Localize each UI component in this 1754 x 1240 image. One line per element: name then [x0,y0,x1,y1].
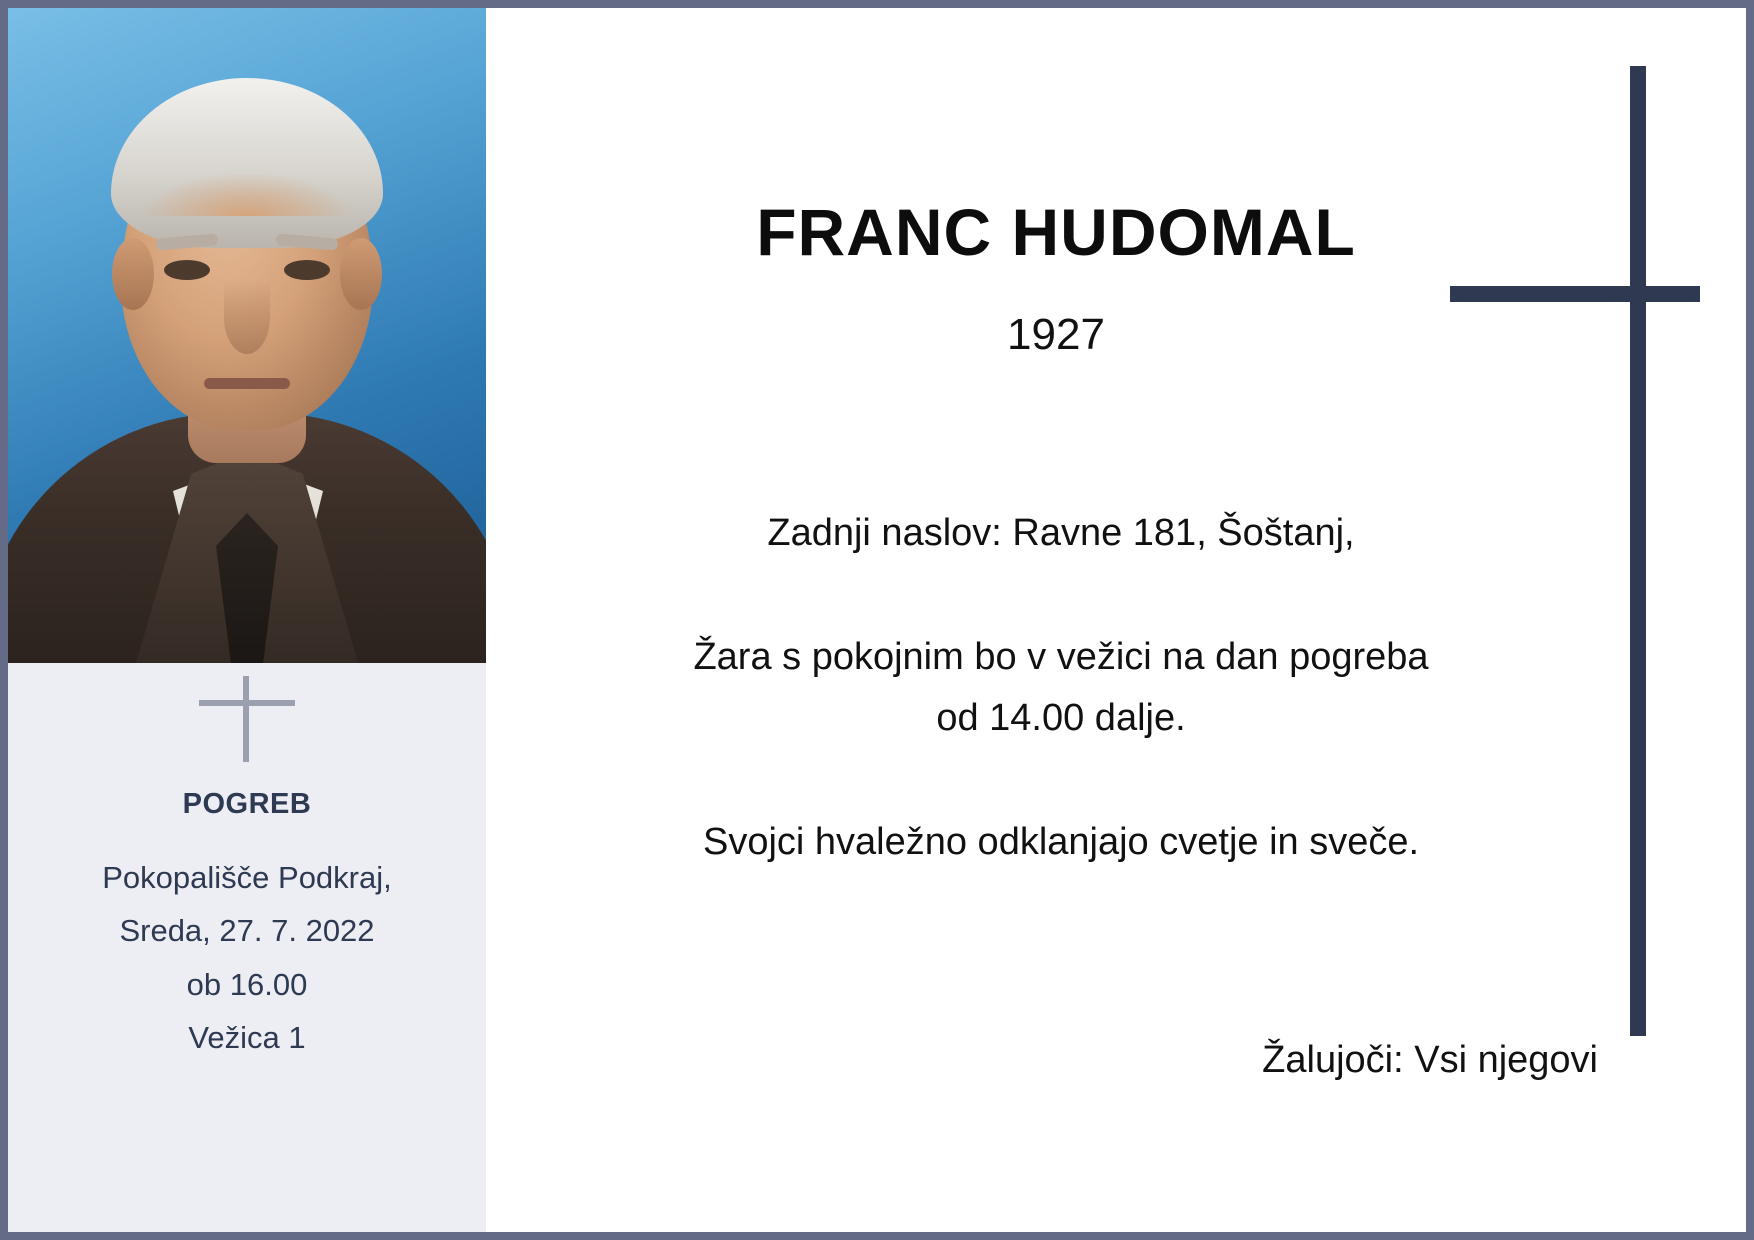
obituary-notice: POGREB Pokopališče Podkraj, Sreda, 27. 7… [8,8,1746,1232]
portrait-eye-left [164,260,210,280]
portrait-ear-left [112,238,154,310]
flowers-line: Svojci hvaležno odklanjajo cvetje in sve… [526,812,1596,874]
notice-body: Zadnji naslov: Ravne 181, Šoštanj, Žara … [526,503,1596,873]
last-address-line: Zadnji naslov: Ravne 181, Šoštanj, [526,503,1596,565]
portrait-photo [8,8,486,663]
urn-line-1: Žara s pokojnim bo v vežici na dan pogre… [693,636,1428,678]
portrait-ear-right [340,238,382,310]
funeral-details: POGREB Pokopališče Podkraj, Sreda, 27. 7… [8,788,486,1064]
deceased-name: FRANC HUDOMAL [486,194,1746,270]
portrait-nose [224,280,270,354]
funeral-heading: POGREB [8,788,486,821]
left-panel: POGREB Pokopališče Podkraj, Sreda, 27. 7… [8,8,486,1232]
right-panel: FRANC HUDOMAL 1927 Zadnji naslov: Ravne … [486,8,1746,1232]
funeral-chapel: Vežica 1 [8,1011,486,1064]
cross-icon-small [199,676,295,762]
cross-horizontal-bar [1450,286,1700,302]
funeral-date: Sreda, 27. 7. 2022 [8,904,486,957]
cross-vertical-bar [243,676,249,762]
portrait-eye-right [284,260,330,280]
portrait-mouth [204,378,290,389]
urn-line-2: od 14.00 dalje. [936,697,1185,739]
deceased-year: 1927 [486,310,1746,360]
mourners-line: Žalujoči: Vsi njegovi [1262,1039,1598,1082]
funeral-time: ob 16.00 [8,958,486,1011]
funeral-cemetery: Pokopališče Podkraj, [8,851,486,904]
cross-horizontal-bar [199,700,295,706]
urn-info: Žara s pokojnim bo v vežici na dan pogre… [526,627,1596,750]
